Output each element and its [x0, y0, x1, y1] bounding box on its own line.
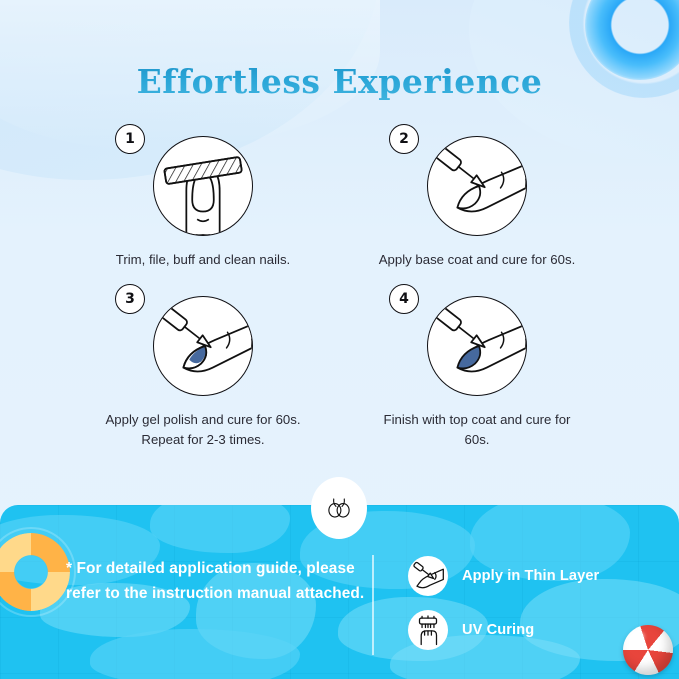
- step-item-3: 3 Apply gel polish: [66, 284, 340, 450]
- step-number-badge-3: 3: [115, 284, 145, 314]
- steps-grid: 1: [66, 124, 614, 450]
- banner-note-text: * For detailed application guide, please…: [66, 557, 366, 607]
- step-illustration-1: [153, 136, 253, 236]
- beach-ball-icon: [623, 625, 673, 675]
- thin-layer-brush-icon: [408, 556, 448, 596]
- brush-applying-base-coat-icon: [428, 137, 526, 235]
- page-title-container: Effortless Experience: [0, 62, 679, 101]
- brush-applying-top-coat-icon: [428, 297, 526, 395]
- step-item-4: 4 Finish with top coat and cure for 60s.: [340, 284, 614, 450]
- brush-applying-gel-polish-icon: [154, 297, 252, 395]
- step-caption-2: Apply base coat and cure for 60s.: [370, 250, 585, 270]
- step-illustration-2: [427, 136, 527, 236]
- banner-divider: [372, 555, 374, 655]
- banner-feature-uv-curing: UV Curing: [408, 603, 599, 657]
- brand-loop-badge-icon: [311, 477, 367, 539]
- step-illustration-4: [427, 296, 527, 396]
- page-title: Effortless Experience: [0, 62, 679, 101]
- banner-feature-list: Apply in Thin Layer: [408, 549, 599, 657]
- step-caption-1: Trim, file, buff and clean nails.: [96, 250, 311, 270]
- banner-feature-label: Apply in Thin Layer: [462, 568, 599, 584]
- step-caption-3: Apply gel polish and cure for 60s. Repea…: [96, 410, 311, 450]
- banner-feature-label: UV Curing: [462, 622, 534, 638]
- step-illustration-3: [153, 296, 253, 396]
- banner-feature-thin-layer: Apply in Thin Layer: [408, 549, 599, 603]
- uv-lamp-hand-icon: [408, 610, 448, 650]
- nail-file-on-fingertip-icon: [154, 137, 252, 235]
- step-number-badge-1: 1: [115, 124, 145, 154]
- step-item-1: 1: [66, 124, 340, 270]
- step-number-badge-2: 2: [389, 124, 419, 154]
- step-caption-4: Finish with top coat and cure for 60s.: [370, 410, 585, 450]
- step-number-badge-4: 4: [389, 284, 419, 314]
- step-item-2: 2 Apply base coat: [340, 124, 614, 270]
